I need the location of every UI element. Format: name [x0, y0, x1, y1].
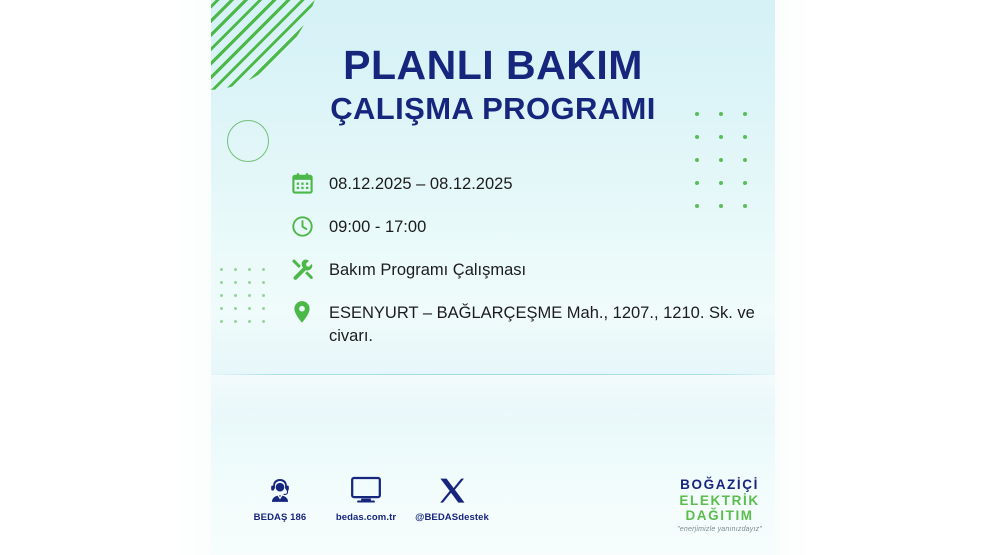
contact-phone[interactable]: BEDAŞ 186: [237, 473, 323, 523]
contact-x-label: @BEDASdestek: [409, 512, 495, 523]
detail-list: 08.12.2025 – 08.12.2025 09:00 - 17:00: [289, 170, 759, 365]
poster-canvas: PLANLI BAKIM ÇALIŞMA PROGRAMI: [0, 0, 986, 555]
right-margin: [775, 0, 986, 555]
contact-phone-label: BEDAŞ 186: [237, 512, 323, 523]
lower-sheen-decoration: [211, 375, 775, 425]
circle-outline-decoration: [227, 120, 269, 162]
monitor-icon: [323, 473, 409, 507]
footer: BEDAŞ 186 bedas.com.tr: [211, 473, 775, 543]
contact-website[interactable]: bedas.com.tr: [323, 473, 409, 523]
contact-channels: BEDAŞ 186 bedas.com.tr: [237, 473, 495, 523]
detail-row-date: 08.12.2025 – 08.12.2025: [289, 170, 759, 196]
poster-panel: PLANLI BAKIM ÇALIŞMA PROGRAMI: [211, 0, 775, 555]
detail-text-date: 08.12.2025 – 08.12.2025: [329, 170, 513, 196]
contact-x-account[interactable]: @BEDASdestek: [409, 473, 495, 523]
brand-logo: BOĞAZİÇİ ELEKTRİK DAĞITIM "enerjimizle y…: [677, 478, 762, 533]
detail-text-work-type: Bakım Programı Çalışması: [329, 256, 526, 282]
location-pin-icon: [289, 299, 315, 325]
detail-row-time: 09:00 - 17:00: [289, 213, 759, 239]
detail-row-location: ESENYURT – BAĞLARÇEŞME Mah., 1207., 1210…: [289, 299, 759, 348]
tools-icon: [289, 256, 315, 282]
brand-line-3: DAĞITIM: [677, 509, 762, 523]
detail-text-time: 09:00 - 17:00: [329, 213, 426, 239]
brand-line-2: ELEKTRİK: [677, 494, 762, 508]
detail-text-location: ESENYURT – BAĞLARÇEŞME Mah., 1207., 1210…: [329, 299, 759, 348]
contact-website-label: bedas.com.tr: [323, 512, 409, 523]
title-main: PLANLI BAKIM: [211, 44, 775, 87]
dot-grid-left-decoration: [220, 268, 276, 333]
calendar-icon: [289, 170, 315, 196]
page-title: PLANLI BAKIM ÇALIŞMA PROGRAMI: [211, 44, 775, 126]
x-twitter-icon: [409, 473, 495, 507]
brand-line-1: BOĞAZİÇİ: [677, 478, 762, 492]
left-margin: [0, 0, 212, 555]
title-subtitle: ÇALIŞMA PROGRAMI: [211, 93, 775, 126]
detail-row-work-type: Bakım Programı Çalışması: [289, 256, 759, 282]
clock-icon: [289, 213, 315, 239]
support-agent-icon: [237, 473, 323, 507]
brand-tagline: "enerjimizle yanınızdayız": [677, 526, 762, 533]
